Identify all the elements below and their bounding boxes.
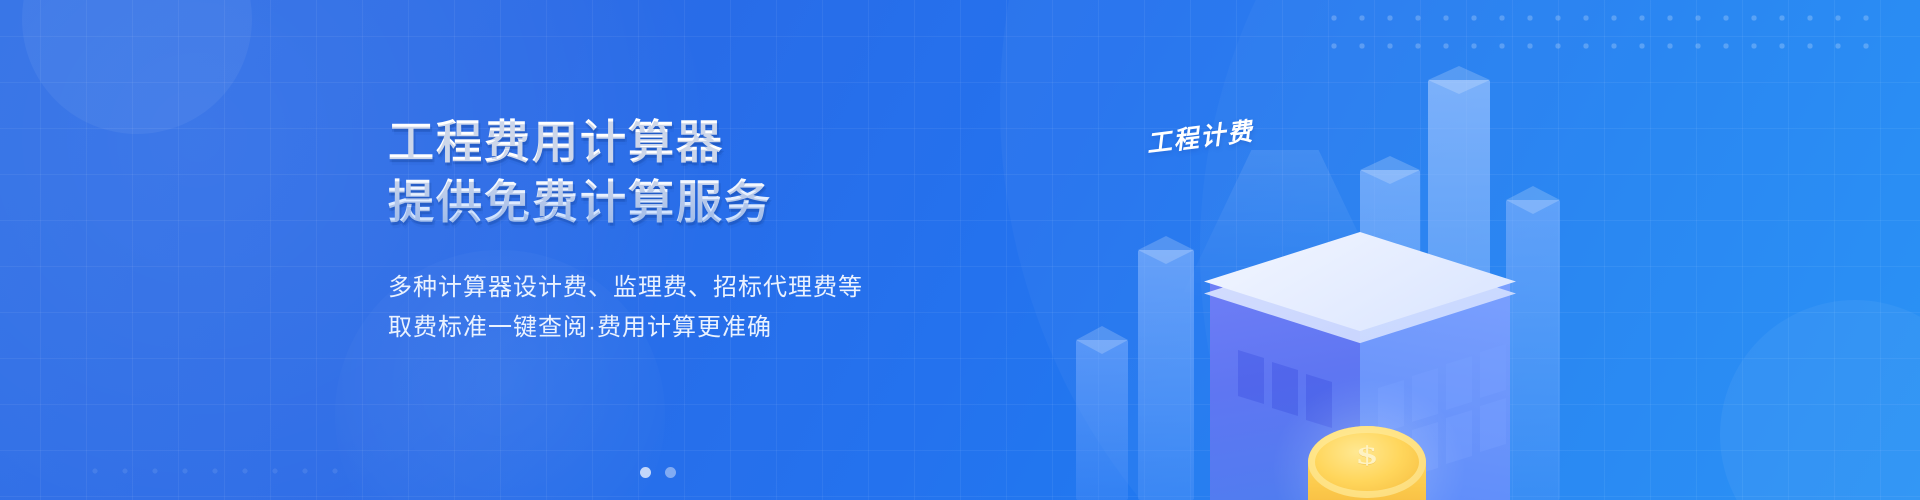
bar-top-face-1 [1076, 326, 1128, 354]
carousel-dots[interactable] [640, 467, 676, 478]
illustration-tag-label: 工程计费 [1144, 112, 1256, 161]
banner-copy-block: 工程费用计算器 提供免费计算服务 多种计算器设计费、监理费、招标代理费等 取费标… [388, 112, 1008, 348]
bar-top-face-5 [1506, 186, 1560, 214]
subtitle-line-1: 多种计算器设计费、监理费、招标代理费等 [388, 268, 1008, 308]
dot-grid-bottom-left [80, 456, 340, 490]
building-window [1238, 350, 1264, 404]
background-bar-1 [1076, 340, 1128, 500]
promo-banner: 工程费用计算器 提供免费计算服务 多种计算器设计费、监理费、招标代理费等 取费标… [0, 0, 1920, 500]
bar-top-face-3 [1360, 156, 1420, 184]
building-window [1480, 344, 1506, 398]
banner-headline: 工程费用计算器 提供免费计算服务 [388, 112, 1008, 232]
banner-subtitle: 多种计算器设计费、监理费、招标代理费等 取费标准一键查阅·费用计算更准确 [388, 268, 1008, 348]
headline-line-1: 工程费用计算器 [388, 112, 1008, 172]
headline-line-2: 提供免费计算服务 [388, 172, 1008, 232]
bar-top-face-4 [1428, 66, 1490, 94]
banner-illustration: $ 工程计费 [1060, 0, 1680, 500]
carousel-dot-2[interactable] [665, 467, 676, 478]
subtitle-line-2: 取费标准一键查阅·费用计算更准确 [388, 308, 1008, 348]
background-bar-2 [1138, 250, 1194, 500]
background-bar-5 [1506, 200, 1560, 500]
dollar-sign-icon: $ [1308, 441, 1426, 470]
carousel-dot-1[interactable] [640, 467, 651, 478]
building-window [1480, 398, 1506, 452]
bar-top-face-2 [1138, 236, 1194, 264]
gold-coin-stack: $ [1308, 426, 1426, 500]
isometric-building: $ [1210, 248, 1510, 500]
